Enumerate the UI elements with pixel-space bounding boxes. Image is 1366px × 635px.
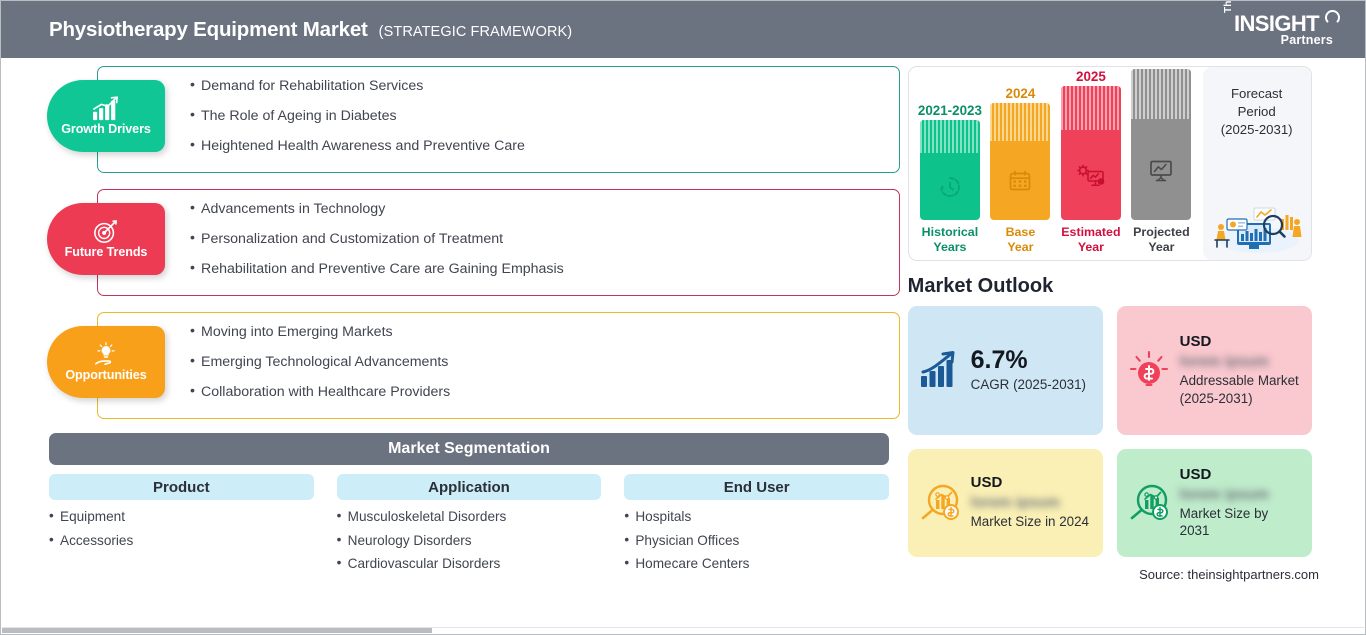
cagr-label: CAGR (2025-2031): [971, 376, 1091, 393]
list-item: Cardiovascular Disorders: [337, 557, 602, 571]
segmentation-column-application: Application Musculoskeletal Disorders Ne…: [337, 474, 602, 581]
logo-the-text: The: [1223, 0, 1234, 13]
magnifier-bar-chart-dollar-icon: [918, 481, 962, 525]
list-item: Homecare Centers: [624, 557, 889, 571]
market-outlook-title: Market Outlook: [908, 275, 1319, 298]
bar-shape: [1061, 86, 1121, 220]
list-item: Advancements in Technology: [190, 202, 899, 216]
list-item: Heightened Health Awareness and Preventi…: [190, 139, 899, 153]
list-item: Collaboration with Healthcare Providers: [190, 385, 899, 399]
bar-stripe-section: [1131, 69, 1191, 119]
badge-opportunities[interactable]: Opportunities: [47, 326, 165, 398]
lightbulb-dollar-icon: [1127, 349, 1171, 393]
segmentation-column-product: Product Equipment Accessories: [49, 474, 314, 581]
source-attribution: Source: theinsightpartners.com: [908, 567, 1319, 582]
left-column: Demand for Rehabilitation Services The R…: [1, 66, 900, 635]
cagr-value: 6.7%: [971, 347, 1091, 373]
bar-caption-line2: Year: [1006, 240, 1036, 254]
bar-caption-line2: Years: [922, 240, 978, 254]
driver-box-future-trends: Advancements in Technology Personalizati…: [97, 189, 900, 296]
bar-chart-arrow-up-icon: [918, 350, 962, 392]
forecast-period-panel: Forecast Period (2025-2031): [1203, 67, 1311, 260]
list-item: Physician Offices: [624, 534, 889, 548]
calendar-icon: [1007, 168, 1033, 194]
list-item: The Role of Ageing in Diabetes: [190, 109, 899, 123]
page-header: Physiotherapy Equipment Market (STRATEGI…: [1, 1, 1365, 58]
outlook-card-market-size-2031[interactable]: USD lorem ipsum Market Size by 2031: [1117, 449, 1312, 557]
bar-year-label: 2025: [1076, 69, 1106, 84]
badge-growth-drivers[interactable]: Growth Drivers: [47, 80, 165, 152]
bar-year-label: 2021-2023: [918, 103, 982, 118]
outlook-card-cagr[interactable]: 6.7% CAGR (2025-2031): [908, 306, 1103, 435]
target-dart-icon: [91, 219, 121, 245]
list-item: Moving into Emerging Markets: [190, 325, 899, 339]
segmentation-columns: Product Equipment Accessories Applicatio…: [49, 474, 889, 581]
driver-row-opportunities: Moving into Emerging Markets Emerging Te…: [47, 312, 900, 419]
driver-bullets-opportunities: Moving into Emerging Markets Emerging Te…: [190, 325, 899, 400]
market-outlook-cards: 6.7% CAGR (2025-2031): [908, 306, 1319, 557]
outlook-card-text: 6.7% CAGR (2025-2031): [971, 347, 1091, 394]
bar-caption-line1: Estimated: [1061, 225, 1120, 239]
bar-shape: [920, 120, 980, 220]
bar-year-label: 2031: [1147, 66, 1177, 67]
timeline-bar-base-year: 2024: [987, 86, 1053, 254]
lightbulb-in-hand-icon: [91, 342, 121, 368]
segmentation-items-end-user: Hospitals Physician Offices Homecare Cen…: [624, 510, 889, 571]
bar-solid-section: [990, 141, 1050, 220]
logo-partners-text: Partners: [1281, 33, 1333, 47]
market-size-2024-label: Market Size in 2024: [971, 513, 1091, 530]
driver-row-growth-drivers: Demand for Rehabilitation Services The R…: [47, 66, 900, 173]
list-item: Equipment: [49, 510, 314, 524]
segmentation-items-product: Equipment Accessories: [49, 510, 314, 547]
bar-caption: Projected Year: [1133, 225, 1189, 254]
outlook-card-text: USD lorem ipsum Addressable Market (2025…: [1180, 334, 1300, 407]
list-item: Demand for Rehabilitation Services: [190, 79, 899, 93]
outlook-card-market-size-2024[interactable]: USD lorem ipsum Market Size in 2024: [908, 449, 1103, 557]
badge-label: Opportunities: [65, 369, 146, 382]
timeline-bars-area: 2021-2023 H: [909, 67, 1203, 260]
gear-forecast-icon: [1076, 162, 1106, 188]
badge-label: Growth Drivers: [61, 123, 151, 136]
main-content: Demand for Rehabilitation Services The R…: [1, 58, 1365, 635]
bar-caption-line1: Projected: [1133, 225, 1189, 239]
blurred-value: lorem ipsum: [971, 495, 1091, 510]
forecast-period-text: Forecast Period (2025-2031): [1221, 85, 1293, 138]
outlook-card-addressable-market[interactable]: USD lorem ipsum Addressable Market (2025…: [1117, 306, 1312, 435]
timeline-bar-projected-year: 2031: [1128, 66, 1194, 254]
infographic-root: Physiotherapy Equipment Market (STRATEGI…: [0, 0, 1366, 635]
segmentation-column-title: End User: [624, 474, 889, 500]
outlook-card-text: USD lorem ipsum Market Size by 2031: [1180, 467, 1300, 540]
usd-label: USD: [1180, 334, 1300, 349]
list-item: Accessories: [49, 534, 314, 548]
addressable-market-label: Addressable Market (2025-2031): [1180, 372, 1300, 407]
list-item: Hospitals: [624, 510, 889, 524]
bar-caption-line1: Historical: [922, 225, 978, 239]
page-subtitle: (STRATEGIC FRAMEWORK): [379, 24, 573, 40]
driver-box-growth-drivers: Demand for Rehabilitation Services The R…: [97, 66, 900, 173]
bar-year-label: 2024: [1006, 86, 1036, 101]
driver-box-opportunities: Moving into Emerging Markets Emerging Te…: [97, 312, 900, 419]
bar-chart-growth-icon: [91, 96, 121, 122]
forecast-period-line2: Period: [1221, 103, 1293, 121]
page-title: Physiotherapy Equipment Market: [49, 18, 368, 42]
magnifier-bar-chart-dollar-icon: [1127, 481, 1171, 525]
segmentation-column-title: Application: [337, 474, 602, 500]
segmentation-items-application: Musculoskeletal Disorders Neurology Diso…: [337, 510, 602, 571]
bar-solid-section: [1131, 119, 1191, 220]
usd-label: USD: [1180, 467, 1300, 482]
bar-caption-line2: Year: [1061, 240, 1120, 254]
segmentation-column-title: Product: [49, 474, 314, 500]
bar-caption-line2: Year: [1133, 240, 1189, 254]
forecast-timeline-chart: 2021-2023 H: [908, 66, 1312, 261]
bar-stripe-section: [990, 103, 1050, 141]
bar-caption-line1: Base: [1006, 225, 1036, 239]
market-size-2031-label: Market Size by 2031: [1180, 505, 1300, 540]
analytics-illustration-icon: [1207, 192, 1307, 254]
segmentation-title: Market Segmentation: [388, 440, 550, 458]
timeline-bar-estimated-year: 2025: [1058, 69, 1124, 254]
bar-solid-section: [920, 153, 980, 220]
badge-future-trends[interactable]: Future Trends: [47, 203, 165, 275]
header-title-group: Physiotherapy Equipment Market (STRATEGI…: [49, 18, 572, 42]
timeline-bar-historical-years: 2021-2023 H: [917, 103, 983, 254]
bar-shape: [990, 103, 1050, 220]
list-item: Emerging Technological Advancements: [190, 355, 899, 369]
outlook-card-text: USD lorem ipsum Market Size in 2024: [971, 475, 1091, 530]
driver-bullets-growth-drivers: Demand for Rehabilitation Services The R…: [190, 79, 899, 154]
forecast-period-line1: Forecast: [1221, 85, 1293, 103]
scrollbar-thumb[interactable]: [2, 628, 432, 633]
logo-circle-icon: [1325, 10, 1340, 25]
bar-stripe-section: [920, 120, 980, 153]
right-column: 2021-2023 H: [900, 66, 1365, 635]
driver-bullets-future-trends: Advancements in Technology Personalizati…: [190, 202, 899, 277]
list-item: Neurology Disorders: [337, 534, 602, 548]
forecast-period-line3: (2025-2031): [1221, 121, 1293, 139]
bar-stripe-section: [1061, 86, 1121, 130]
list-item: Musculoskeletal Disorders: [337, 510, 602, 524]
clock-history-icon: [937, 174, 963, 200]
bar-solid-section: [1061, 130, 1121, 220]
bar-caption: Historical Years: [922, 225, 978, 254]
badge-label: Future Trends: [65, 246, 148, 259]
horizontal-scrollbar[interactable]: [2, 627, 1364, 633]
segmentation-column-end-user: End User Hospitals Physician Offices Hom…: [624, 474, 889, 581]
driver-row-future-trends: Advancements in Technology Personalizati…: [47, 189, 900, 296]
blurred-value: lorem ipsum: [1180, 354, 1300, 369]
list-item: Personalization and Customization of Tre…: [190, 232, 899, 246]
usd-label: USD: [971, 475, 1091, 490]
list-item: Rehabilitation and Preventive Care are G…: [190, 262, 899, 276]
bar-caption: Estimated Year: [1061, 225, 1120, 254]
market-segmentation-header: Market Segmentation: [49, 433, 889, 465]
presentation-chart-icon: [1147, 157, 1175, 183]
bar-caption: Base Year: [1006, 225, 1036, 254]
bar-shape: [1131, 69, 1191, 220]
insight-partners-logo: The INSIGHT Partners: [1223, 9, 1341, 51]
blurred-value: lorem ipsum: [1180, 487, 1300, 502]
